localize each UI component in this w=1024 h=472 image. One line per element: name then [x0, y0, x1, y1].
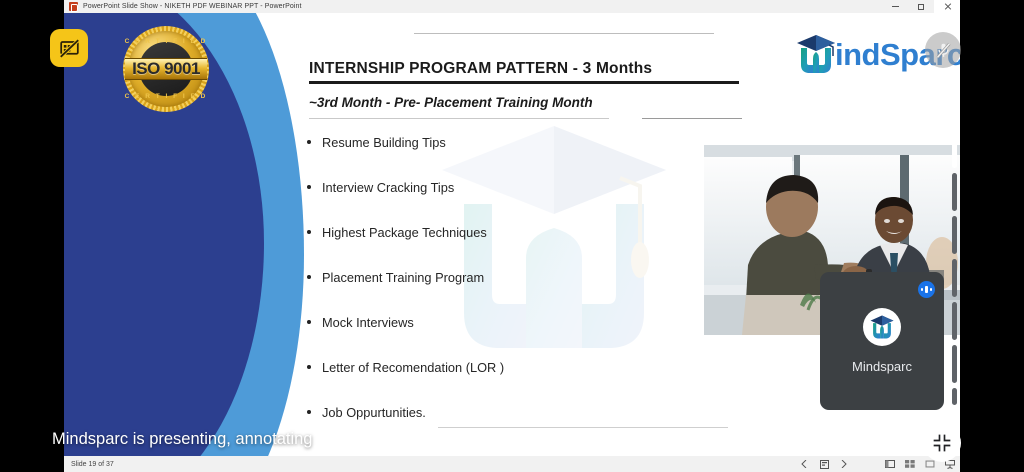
- bullet-text: Job Oppurtunities.: [322, 405, 426, 420]
- filmstrip-segment[interactable]: [952, 345, 957, 383]
- bullet-dot-icon: [307, 320, 311, 324]
- powerpoint-title-bar: PowerPoint Slide Show - NIKETH PDF WEBIN…: [64, 0, 960, 13]
- bullet-text: Placement Training Program: [322, 270, 484, 285]
- filmstrip-segment[interactable]: [952, 388, 957, 405]
- mindsparc-m-avatar-icon: [868, 313, 896, 341]
- bullet-text: Resume Building Tips: [322, 135, 446, 150]
- avatar: [863, 308, 901, 346]
- slide-subtitle-divider-right: [642, 118, 742, 119]
- filmstrip-segment[interactable]: [952, 173, 957, 211]
- list-item: Letter of Recomendation (LOR ): [307, 360, 657, 405]
- filmstrip-progress[interactable]: [952, 130, 957, 405]
- mindsparc-m-icon: [794, 32, 838, 76]
- slide-sorter-icon[interactable]: [900, 456, 920, 472]
- slide-title: INTERNSHIP PROGRAM PATTERN - 3 Months: [309, 60, 652, 78]
- audio-level-icon: [918, 281, 935, 298]
- list-item: Interview Cracking Tips: [307, 180, 657, 225]
- powerpoint-status-bar: Slide 19 of 37: [64, 456, 960, 472]
- slide-subtitle: ~3rd Month - Pre- Placement Training Mon…: [309, 95, 593, 110]
- bullet-dot-icon: [307, 140, 311, 144]
- filmstrip-segment[interactable]: [952, 130, 957, 168]
- list-item: Job Oppurtunities.: [307, 405, 657, 450]
- list-item: Resume Building Tips: [307, 135, 657, 180]
- powerpoint-icon: [69, 2, 78, 11]
- bullet-text: Mock Interviews: [322, 315, 414, 330]
- stop-presenting-button[interactable]: [50, 29, 88, 67]
- iso-badge-top-text: C E R T I F I E D: [123, 38, 209, 45]
- iso-badge-standard-text: ISO 9001: [132, 59, 200, 79]
- window-minimize-button[interactable]: [882, 0, 908, 13]
- iso-9001-badge: C E R T I F I E D ISO 9001 C E R T I F I…: [123, 26, 209, 112]
- next-slide-button[interactable]: [834, 456, 854, 472]
- bullet-dot-icon: [307, 185, 311, 189]
- bullet-text: Highest Package Techniques: [322, 225, 487, 240]
- bullet-text: Interview Cracking Tips: [322, 180, 454, 195]
- bullet-dot-icon: [307, 410, 311, 414]
- collapse-fullscreen-button[interactable]: [923, 424, 961, 462]
- bullet-dot-icon: [307, 230, 311, 234]
- normal-view-icon[interactable]: [880, 456, 900, 472]
- statusbar-gap: [854, 456, 880, 472]
- list-item: Highest Package Techniques: [307, 225, 657, 270]
- microphone-muted-icon: [934, 41, 953, 60]
- list-item: Placement Training Program: [307, 270, 657, 315]
- bullet-text: Letter of Recomendation (LOR ): [322, 360, 504, 375]
- window-close-button[interactable]: [934, 0, 960, 13]
- collapse-fullscreen-icon: [932, 433, 952, 453]
- filmstrip-segment[interactable]: [952, 216, 957, 254]
- window-maximize-button[interactable]: [908, 0, 934, 13]
- list-item: Mock Interviews: [307, 315, 657, 360]
- previous-slide-button[interactable]: [794, 456, 814, 472]
- presenting-caption: Mindsparc is presenting, annotating: [52, 430, 313, 449]
- slide-subtitle-divider: [309, 118, 609, 119]
- slide-title-underline: [309, 81, 739, 84]
- slide-counter: Slide 19 of 37: [71, 461, 114, 468]
- filmstrip-segment[interactable]: [952, 259, 957, 297]
- bullet-dot-icon: [307, 275, 311, 279]
- participant-name: Mindsparc: [852, 359, 912, 374]
- window-title: PowerPoint Slide Show - NIKETH PDF WEBIN…: [83, 3, 302, 10]
- participant-tile-mindsparc[interactable]: Mindsparc: [820, 272, 944, 410]
- stop-presenting-icon: [59, 38, 80, 59]
- screen-root: PowerPoint Slide Show - NIKETH PDF WEBIN…: [0, 0, 1024, 472]
- slide-bullet-list: Resume Building Tips Interview Cracking …: [307, 135, 657, 450]
- microphone-mute-button[interactable]: [925, 32, 961, 68]
- iso-badge-bottom-text: C E R T I F I E D: [123, 93, 209, 100]
- iso-badge-standard-band: ISO 9001: [125, 58, 207, 80]
- slide-top-divider: [414, 33, 714, 34]
- bullet-dot-icon: [307, 365, 311, 369]
- filmstrip-segment[interactable]: [952, 302, 957, 340]
- slide-menu-button[interactable]: [814, 456, 834, 472]
